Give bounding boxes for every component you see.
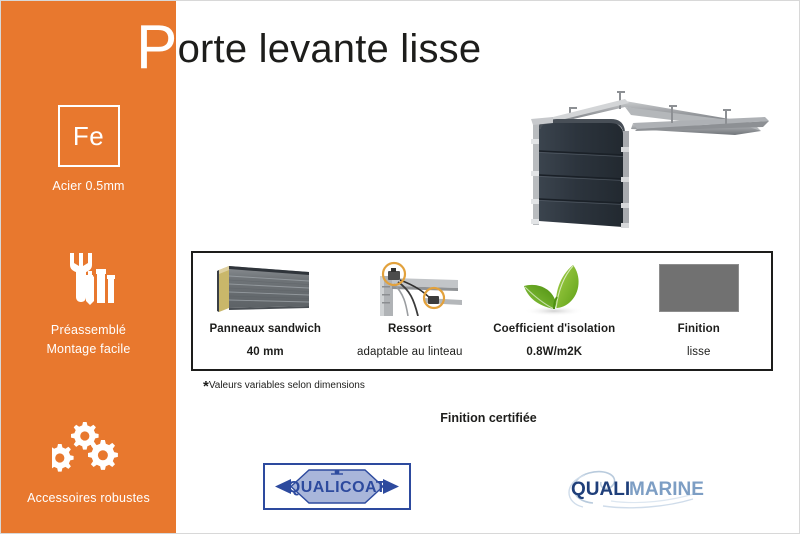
feature-value-finish: lisse [687,346,711,358]
features-panel: Panneaux sandwich 40 mm [191,251,773,371]
sidebar-label-steel: Acier 0.5mm [1,177,176,196]
footnote-asterisk: * [203,378,209,395]
qualimarine-logo: QUALI MARINE [559,463,711,511]
product-sheet-page: Fe Acier 0.5mm [0,0,800,534]
finish-swatch-icon [659,257,739,319]
feature-cell-finish: Finition lisse [627,253,772,369]
feature-title-spring: Ressort [388,323,432,335]
sidebar-feature-accessories: Accessoires robustes [1,417,176,508]
footnote: *Valeurs variables selon dimensions [203,380,365,397]
spring-rail-icon [358,257,462,319]
qualicoat-logo-text: QUALICOAT [288,479,386,496]
fe-element-box-icon: Fe [58,105,120,167]
feature-value-spring: adaptable au linteau [357,346,463,358]
qualicoat-logo: QUALICOAT [263,463,411,510]
wrench-screws-icon [1,249,176,311]
feature-title-panels: Panneaux sandwich [209,323,321,335]
feature-title-finish: Finition [678,323,720,335]
green-leaves-icon [511,257,597,319]
sidebar-label-accessories: Accessoires robustes [1,489,176,508]
feature-cell-insulation: Coefficient d'isolation 0.8W/m2K [482,253,627,369]
qualimarine-logo-text-primary: QUALI [571,479,630,500]
feature-title-insulation: Coefficient d'isolation [493,323,615,335]
gears-icon [1,417,176,479]
feature-value-insulation: 0.8W/m2K [526,346,582,358]
qualimarine-logo-text-secondary: MARINE [629,479,704,500]
feature-value-panels: 40 mm [247,346,284,358]
sidebar-label-preassembled-1: Préassemblé [1,321,176,340]
finish-color-swatch [659,264,739,312]
fe-symbol: Fe [73,123,104,149]
feature-cell-spring: Ressort adaptable au linteau [338,253,483,369]
sidebar-feature-preassembled: Préassemblé Montage facile [1,249,176,360]
page-title-initial: P [136,13,178,82]
sectional-garage-door-photo [513,87,785,235]
page-title: Porte levante lisse [136,27,481,71]
certification-heading: Finition certifiée [1,411,800,425]
sidebar-feature-steel: Fe Acier 0.5mm [1,105,176,196]
feature-cell-panels: Panneaux sandwich 40 mm [193,253,338,369]
footnote-text: Valeurs variables selon dimensions [209,380,365,391]
sandwich-panel-icon [213,257,317,319]
page-title-rest: orte levante lisse [178,27,482,71]
sidebar-label-preassembled-2: Montage facile [1,340,176,359]
